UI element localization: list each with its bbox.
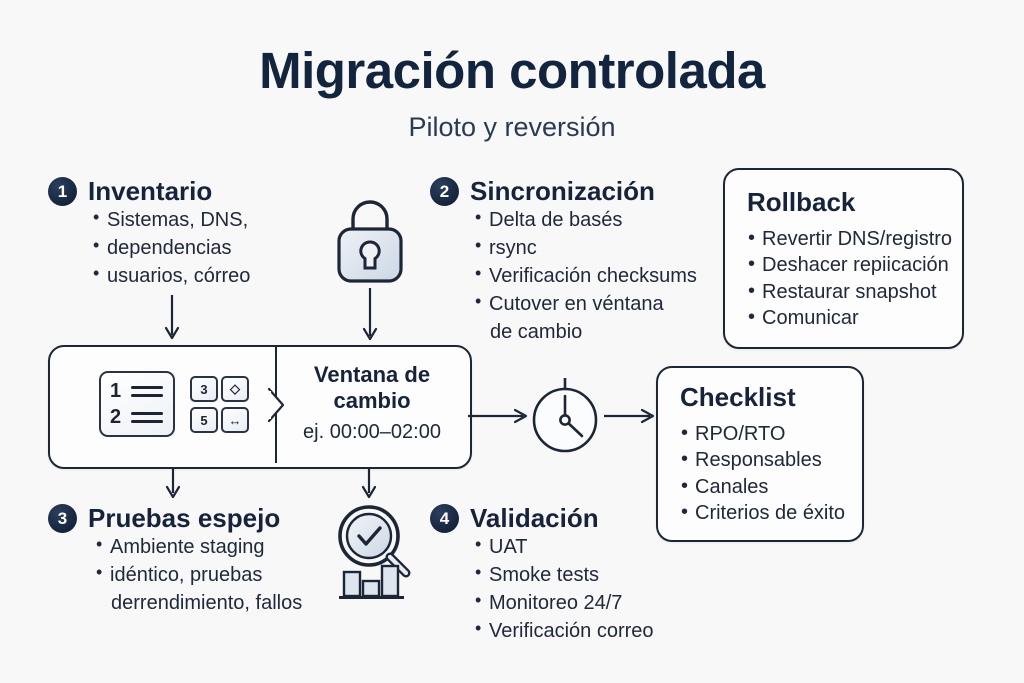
list-item: Responsables	[680, 447, 845, 473]
step-3-bullets: Ambiente staging idéntico, pruebas derre…	[48, 534, 368, 616]
list-item: Monitoreo 24/7	[475, 590, 730, 616]
list-item: usuarios, córreo	[93, 263, 328, 289]
page-subtitle: Piloto y reversión	[0, 112, 1024, 143]
step-block-3: 3 Pruebas espejo Ambiente staging idénti…	[48, 503, 368, 618]
list-item: rsync	[475, 235, 730, 261]
list-item: Restaurar snapshot	[747, 279, 952, 305]
checklist-card-title: Checklist	[680, 382, 796, 413]
list-item: Canales	[680, 474, 845, 500]
step-3-title: Pruebas espejo	[88, 503, 280, 534]
step-3-badge: 3	[48, 504, 77, 533]
list-item: Deshacer repiicación	[747, 252, 952, 278]
checklist-card-bullets: RPO/RTO Responsables Canales Criterios d…	[680, 421, 845, 527]
change-window-line2-text: cambio	[333, 388, 410, 413]
key-tile-2: 5	[190, 407, 218, 433]
list-item: Ambiente staging	[96, 534, 368, 560]
key-tile-diamond: ◇	[221, 376, 249, 402]
step-4-badge: 4	[430, 504, 459, 533]
rollback-card-bullets: Revertir DNS/registro Deshacer repiicaci…	[747, 226, 952, 332]
rollback-card-title: Rollback	[747, 187, 855, 218]
list-item: Revertir DNS/registro	[747, 226, 952, 252]
change-window-time: ej. 00:00–02:00	[278, 421, 466, 444]
step-1-badge: 1	[48, 177, 77, 206]
bar-chart-icon	[339, 566, 404, 598]
change-window-text: Ventana de cambio ej. 00:00–02:00	[278, 362, 466, 444]
list-icon-row2-number: 2	[110, 406, 121, 429]
step-1-header: 1 Inventario	[48, 176, 328, 207]
step-2-bullets: Delta de basés rsync Verificación checks…	[430, 207, 730, 345]
list-item: Criterios de éxito	[680, 500, 845, 526]
arrow-window-to-step3	[164, 468, 182, 502]
step-2-header: 2 Sincronización	[430, 176, 730, 207]
lock-icon	[328, 196, 412, 286]
step-block-2: 2 Sincronización Delta de basés rsync Ve…	[430, 176, 730, 347]
step-2-badge: 2	[430, 177, 459, 206]
arrow-clock-to-checklist	[604, 408, 660, 424]
step-1-title: Inventario	[88, 176, 212, 207]
list-icon-row1-number: 1	[110, 380, 121, 403]
arrow-lock-to-window	[361, 288, 379, 346]
key-tile-arrows: ↔	[221, 407, 249, 433]
list-item: Verificación checksums	[475, 263, 730, 289]
list-item: Verificación correo	[475, 618, 730, 644]
list-item-continuation: de cambio	[475, 319, 730, 345]
list-item: Comunicar	[747, 305, 952, 331]
numbered-list-icon: 1 2	[99, 371, 175, 437]
list-item: Delta de basés	[475, 207, 730, 233]
list-item: dependencias	[93, 235, 328, 261]
clock-icon	[528, 378, 602, 456]
change-window-line1: Ventana de cambio	[278, 362, 466, 414]
list-item: RPO/RTO	[680, 421, 845, 447]
key-tile-1: 3	[190, 376, 218, 402]
step-1-bullets: Sistemas, DNS, dependencias usuarios, có…	[48, 207, 328, 289]
list-item: Cutover en véntana	[475, 291, 730, 317]
change-window-line1-text: Ventana de	[314, 362, 430, 387]
arrow-window-to-clock	[468, 408, 532, 424]
magnifier-check-icon	[330, 500, 422, 608]
list-item: Smoke tests	[475, 562, 730, 588]
checklist-card: Checklist RPO/RTO Responsables Canales C…	[656, 366, 864, 542]
step-2-title: Sincronización	[470, 176, 655, 207]
arrow-step1-to-window	[163, 295, 181, 345]
page-title: Migración controlada	[0, 44, 1024, 98]
list-item: Sistemas, DNS,	[93, 207, 328, 233]
arrow-window-to-validation	[360, 468, 378, 502]
rollback-card: Rollback Revertir DNS/registro Deshacer …	[723, 168, 964, 349]
step-4-title: Validación	[470, 503, 599, 534]
step-block-1: 1 Inventario Sistemas, DNS, dependencias…	[48, 176, 328, 291]
list-item-continuation: derrendimiento, fallos	[96, 590, 368, 616]
step-4-bullets: UAT Smoke tests Monitoreo 24/7 Verificac…	[430, 534, 730, 644]
step-3-header: 3 Pruebas espejo	[48, 503, 368, 534]
list-item: idéntico, pruebas	[96, 562, 368, 588]
diagram-canvas: Migración controlada Piloto y reversión …	[0, 0, 1024, 683]
